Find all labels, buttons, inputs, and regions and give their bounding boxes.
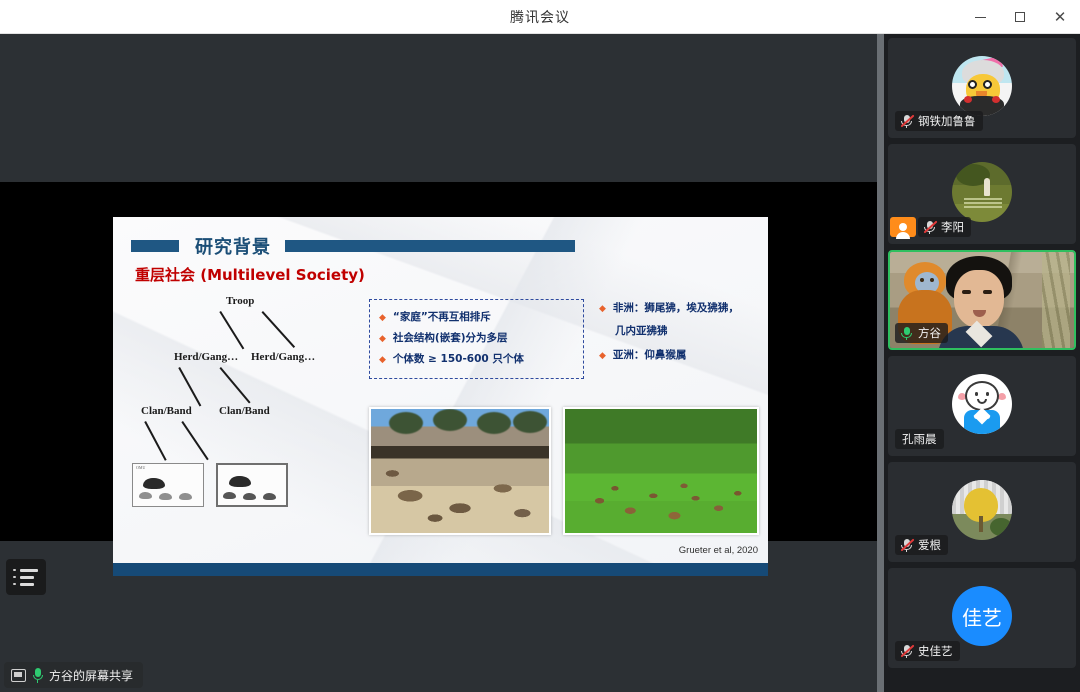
participant-tile[interactable]: 爱根 bbox=[888, 462, 1076, 562]
monitor-icon bbox=[11, 669, 26, 682]
tree-node-clan-2: Clan/Band bbox=[219, 405, 270, 417]
region-bullet-list: ◆ 非洲：狮尾狒，埃及狒狒， 几内亚狒狒 ◆ 亚洲：仰鼻猴属 bbox=[599, 301, 739, 370]
primate-silhouette bbox=[179, 493, 192, 500]
slide-header-title: 研究背景 bbox=[195, 233, 271, 259]
header-bar-left bbox=[131, 240, 179, 252]
bullet-row: ◆ 非洲：狮尾狒，埃及狒狒， bbox=[599, 301, 739, 316]
participant-nametag: 钢铁加鲁鲁 bbox=[895, 111, 983, 131]
participant-name: 爱根 bbox=[918, 537, 941, 553]
participant-nametag: 爱根 bbox=[895, 535, 948, 555]
participant-name: 史佳艺 bbox=[918, 643, 953, 659]
tree-blob bbox=[389, 412, 423, 434]
bullet-row: ◆ 亚洲：仰鼻猴属 bbox=[599, 348, 739, 363]
diamond-bullet-icon: ◆ bbox=[599, 301, 606, 315]
bullet-row: ◆ 社会结构(嵌套)分为多层 bbox=[379, 331, 524, 345]
window-title: 腾讯会议 bbox=[510, 7, 570, 27]
boxed-bullet-list: ◆ “家庭”不再互相排斥 ◆ 社会结构(嵌套)分为多层 ◆ 个体数 ≥ 150-… bbox=[379, 310, 524, 373]
bullet-row: ◆ 个体数 ≥ 150-600 只个体 bbox=[379, 352, 524, 366]
tree-blob bbox=[477, 412, 511, 434]
window-controls: ✕ bbox=[960, 0, 1080, 34]
photo-rocky-hillside bbox=[369, 407, 551, 535]
tree-edge bbox=[144, 421, 166, 461]
participant-nametag: 史佳艺 bbox=[895, 641, 960, 661]
tree-blob bbox=[433, 409, 467, 431]
initials-avatar: 佳艺 bbox=[952, 586, 1012, 646]
tree-edge bbox=[219, 311, 244, 349]
participant-nametag: 李阳 bbox=[918, 217, 971, 237]
hierarchy-tree-diagram: Troop Herd/Gang… Herd/Gang… Clan/Band Cl… bbox=[121, 295, 369, 535]
title-bar: 腾讯会议 ✕ bbox=[0, 0, 1080, 34]
tree-node-herd-1: Herd/Gang… bbox=[174, 351, 238, 363]
background-foliage bbox=[1042, 252, 1070, 348]
primate-silhouette bbox=[223, 492, 236, 499]
mic-muted-icon bbox=[923, 220, 936, 234]
photo-rocky-hillside-image bbox=[371, 409, 549, 533]
header-bar-right bbox=[285, 240, 575, 252]
avatar-initials: 佳艺 bbox=[962, 602, 1002, 631]
participant-name: 方谷 bbox=[918, 325, 941, 341]
primate-silhouette bbox=[263, 493, 276, 500]
bullet-text: 社会结构(嵌套)分为多层 bbox=[393, 331, 508, 345]
tree-edge bbox=[262, 311, 296, 348]
bullet-text: 非洲：狮尾狒，埃及狒狒， bbox=[613, 301, 739, 316]
line-character-avatar bbox=[952, 374, 1012, 434]
bullet-subtext: 几内亚狒狒 bbox=[615, 323, 739, 338]
slide-credit: Grueter et al, 2020 bbox=[679, 545, 758, 556]
primate-silhouette bbox=[139, 492, 152, 499]
maximize-icon bbox=[1015, 12, 1025, 22]
list-row bbox=[13, 583, 39, 586]
diamond-bullet-icon: ◆ bbox=[379, 310, 386, 324]
participant-rail[interactable]: 钢铁加鲁鲁 李阳 bbox=[884, 34, 1080, 692]
primate-silhouette bbox=[243, 493, 256, 500]
tree-edge bbox=[219, 367, 250, 404]
mic-on-icon bbox=[32, 668, 43, 683]
participant-tile-active-speaker[interactable]: 方谷 bbox=[888, 250, 1076, 350]
participant-tile[interactable]: 佳艺 史佳艺 bbox=[888, 568, 1076, 668]
participant-tile[interactable]: 孔雨晨 bbox=[888, 356, 1076, 456]
shared-screen-stage[interactable]: 研究背景 重层社会 (Multilevel Society) Troop Her… bbox=[0, 34, 884, 692]
penguin-avatar bbox=[952, 56, 1012, 116]
list-row bbox=[13, 576, 39, 579]
omu-box-2 bbox=[216, 463, 288, 507]
tree-edge bbox=[178, 367, 201, 406]
host-badge bbox=[890, 217, 916, 237]
diamond-bullet-icon: ◆ bbox=[379, 352, 386, 366]
ginkgo-tree-avatar bbox=[952, 480, 1012, 540]
bullet-text: “家庭”不再互相排斥 bbox=[393, 310, 491, 324]
participant-name: 钢铁加鲁鲁 bbox=[918, 113, 976, 129]
person-figure bbox=[938, 256, 1024, 350]
participant-name: 李阳 bbox=[941, 219, 964, 235]
close-icon: ✕ bbox=[1054, 10, 1067, 25]
mic-on-icon bbox=[900, 326, 913, 340]
omu-label: OMU bbox=[136, 465, 145, 470]
list-view-icon[interactable] bbox=[6, 559, 46, 595]
bullet-row: ◆ “家庭”不再互相排斥 bbox=[379, 310, 524, 324]
participant-tile[interactable]: 钢铁加鲁鲁 bbox=[888, 38, 1076, 138]
diamond-bullet-icon: ◆ bbox=[599, 348, 606, 362]
photo-green-grassland bbox=[563, 407, 759, 535]
tree-edge bbox=[181, 421, 208, 460]
presentation-slide: 研究背景 重层社会 (Multilevel Society) Troop Her… bbox=[113, 217, 768, 576]
dashed-bullet-box: ◆ “家庭”不再互相排斥 ◆ 社会结构(嵌套)分为多层 ◆ 个体数 ≥ 150-… bbox=[369, 299, 584, 379]
close-button[interactable]: ✕ bbox=[1040, 0, 1080, 34]
participant-nametag: 孔雨晨 bbox=[895, 429, 944, 449]
screen-share-status-bar[interactable]: 方谷的屏幕共享 bbox=[4, 662, 143, 688]
slide-header: 研究背景 bbox=[131, 233, 575, 259]
tencent-meeting-window: 腾讯会议 ✕ 研究背景 重层社会 (Multilevel Society) Tr… bbox=[0, 0, 1080, 692]
bullet-text: 个体数 ≥ 150-600 只个体 bbox=[393, 352, 524, 366]
slide-footer-bar bbox=[113, 563, 768, 576]
photo-green-grassland-image bbox=[565, 409, 757, 533]
primate-silhouette bbox=[229, 476, 251, 487]
diamond-bullet-icon: ◆ bbox=[379, 331, 386, 345]
primate-silhouette bbox=[159, 493, 172, 500]
screen-share-status-text: 方谷的屏幕共享 bbox=[49, 667, 133, 684]
primate-silhouette bbox=[143, 478, 165, 489]
participant-name: 孔雨晨 bbox=[902, 431, 937, 447]
mic-muted-icon bbox=[900, 114, 913, 128]
participant-nametag: 方谷 bbox=[895, 323, 948, 343]
list-row bbox=[13, 569, 39, 572]
tree-node-clan-1: Clan/Band bbox=[141, 405, 192, 417]
tree-blob bbox=[513, 411, 547, 433]
field-avatar bbox=[952, 162, 1012, 222]
bullet-text: 亚洲：仰鼻猴属 bbox=[613, 348, 687, 363]
omu-box-1: OMU bbox=[132, 463, 204, 507]
tree-node-herd-2: Herd/Gang… bbox=[251, 351, 315, 363]
maximize-button[interactable] bbox=[1000, 0, 1040, 34]
slide-subtitle: 重层社会 (Multilevel Society) bbox=[135, 264, 365, 285]
tree-node-root: Troop bbox=[226, 295, 254, 307]
minimize-icon bbox=[975, 17, 986, 18]
mic-muted-icon bbox=[900, 644, 913, 658]
minimize-button[interactable] bbox=[960, 0, 1000, 34]
mic-muted-icon bbox=[900, 538, 913, 552]
participant-tile[interactable]: 李阳 bbox=[888, 144, 1076, 244]
